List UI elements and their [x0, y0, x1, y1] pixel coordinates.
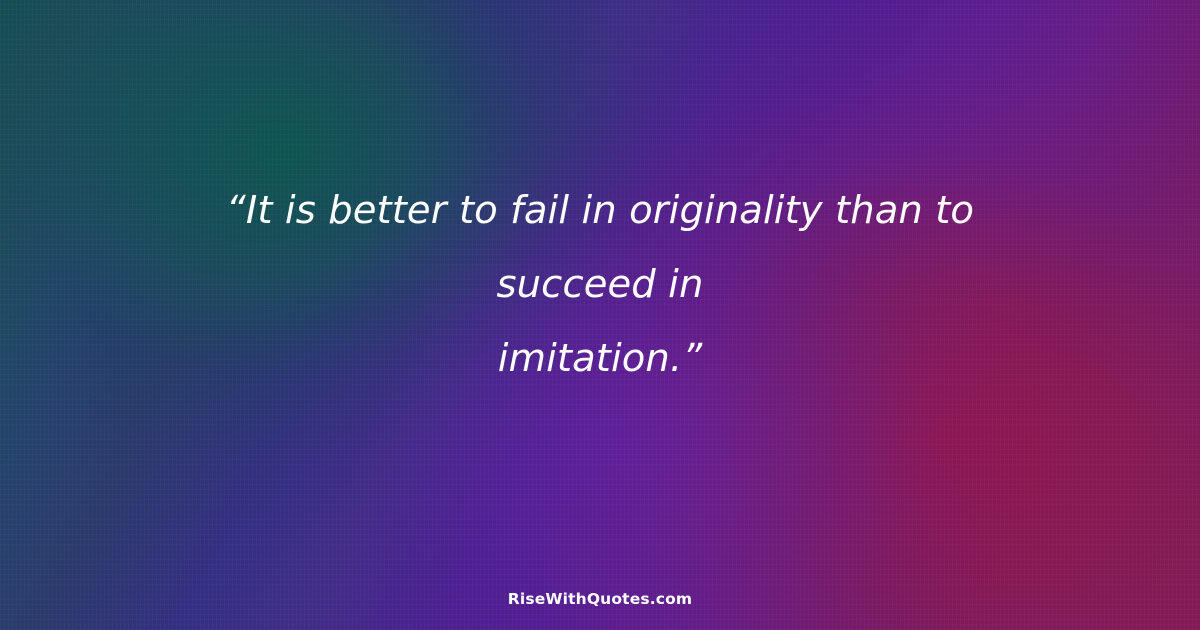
quote-text: “It is better to fail in originality tha… — [150, 174, 1050, 396]
quote-block: “It is better to fail in originality tha… — [0, 174, 1200, 396]
site-attribution-label: RiseWithQuotes.com — [508, 590, 692, 608]
quote-card: “It is better to fail in originality tha… — [0, 0, 1200, 630]
content-layer: “It is better to fail in originality tha… — [0, 0, 1200, 630]
footer: RiseWithQuotes.com — [0, 589, 1200, 608]
